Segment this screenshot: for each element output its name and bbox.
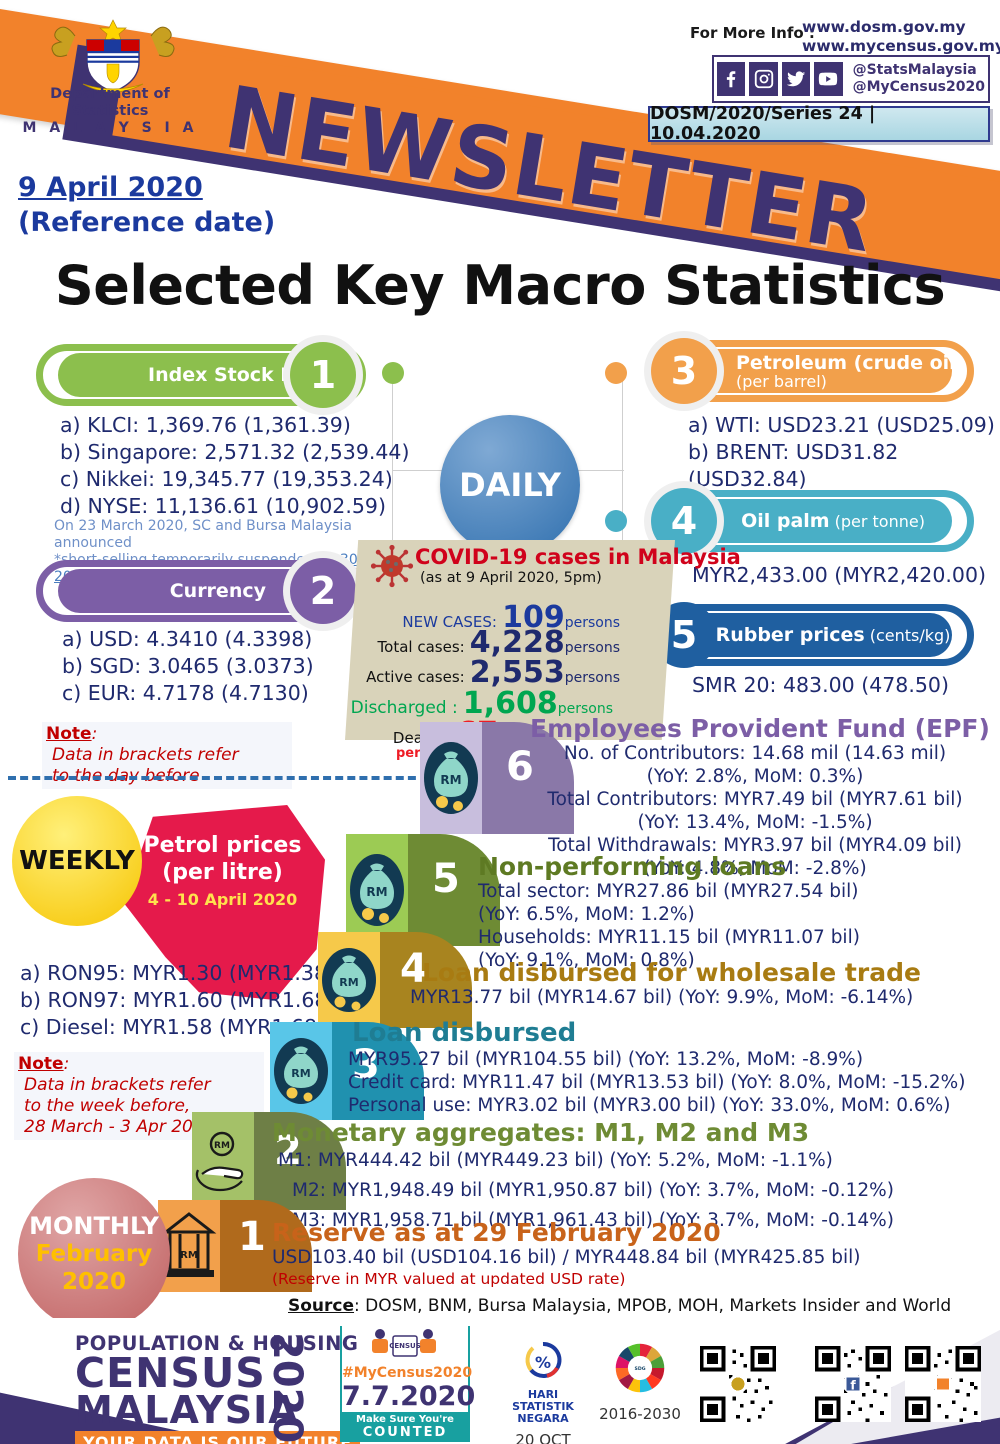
census-line3: MALAYSIA [75,1392,375,1428]
petrol-title-block: Petrol prices (per litre) 4 - 10 April 2… [125,832,320,909]
step-4-icon-bg: RM [318,932,380,1028]
weekly-note-line-2: to the week before, [24,1096,214,1117]
money-bag-icon: RM [346,834,408,946]
daily-item-1-dot [382,362,404,384]
daily-item-2-body: a) USD: 4.3410 (4.3398) b) SGD: 3.0465 (… [62,626,314,707]
qr-code-dosm[interactable] [700,1346,776,1422]
daily-note-key: Note [46,724,92,744]
daily-item-3-dot [605,362,627,384]
body-line: b) Singapore: 2,571.32 (2,539.44) [60,439,409,466]
department-line1: Department of Statistics [10,86,210,120]
hari-statistik-logo: % HARI STATISTIK NEGARA 20 OCT [495,1340,591,1444]
svg-text:RM: RM [214,1141,230,1151]
body-line: MYR95.27 bil (MYR104.55 bil) (YoY: 13.2%… [348,1048,965,1071]
covid-label: Total cases: [378,638,465,656]
step-5-icon-bg: RM [346,834,408,946]
daily-note-line-1: Data in brackets refer [52,745,239,766]
step-3-icon-bg: RM [270,1022,332,1120]
body-line: M2: MYR1,948.49 bil (MYR1,950.87 bil) (Y… [292,1176,894,1206]
body-line: b) BRENT: USD31.82 (USD32.84) [688,439,1000,493]
daily-item-5-body: SMR 20: 483.00 (478.50) [692,672,949,699]
svg-text:SDG: SDG [634,1366,645,1372]
body-line: Households: MYR11.15 bil (MYR11.07 bil) [478,926,860,949]
social-handles: @StatsMalaysia @MyCensus2020 [853,62,985,96]
qr-code-mycensus[interactable] [905,1346,981,1422]
weekly-badge: WEEKLY [12,796,142,926]
petrol-period: 4 - 10 April 2020 [125,890,320,909]
money-bag-icon: RM [270,1022,332,1120]
body-line: Total sector: MYR27.86 bil (MYR27.54 bil… [478,880,860,903]
petrol-title-line1: Petrol prices [125,832,320,859]
step-2-icon-bg: RM [192,1112,254,1210]
census-year: 2020 [268,1332,306,1443]
svg-text:RM: RM [180,1250,198,1261]
step-1-body: USD103.40 bil (USD104.16 bil) / MYR448.8… [272,1246,860,1269]
step-1-red-note: (Reserve in MYR valued at updated USD ra… [272,1270,625,1288]
monthly-label: MONTHLY [29,1212,159,1240]
covid-value: 2,553 [470,655,565,690]
social-media-box: @StatsMalaysia @MyCensus2020 [712,55,990,103]
covid-subtitle: (as at 9 April 2020, 5pm) [420,570,602,586]
daily-item-1-number: 1 [290,342,356,408]
daily-item-4-title: Oil palm [741,510,830,532]
svg-text:RM: RM [440,773,461,787]
daily-note-sep: : [92,724,98,744]
step-6-icon-bg: RM [420,722,482,834]
step-1-number: 1 [238,1214,266,1260]
body-line: a) WTI: USD23.21 (USD25.09) [688,412,1000,439]
hari-date: 20 OCT [495,1431,591,1444]
series-badge: DOSM/2020/Series 24 | 10.04.2020 [648,106,990,142]
infographic-page: NEWSLETTER Department of St [0,0,1000,1444]
body-line: USD103.40 bil (USD104.16 bil) / MYR448.8… [272,1246,860,1269]
daily-item-4-dot [605,510,627,532]
section-divider [8,776,428,780]
body-line: Credit card: MYR11.47 bil (MYR13.53 bil)… [348,1071,965,1094]
sdg-wheel-logo: SDG 2016-2030 [585,1340,695,1423]
body-line: b) RON97: MYR1.60 (MYR1.68) [20,987,335,1014]
source-sep: : [354,1296,365,1316]
census-line2: CENSUS [75,1355,375,1392]
body-line: c) Nikkei: 19,345.77 (19,353.24) [60,466,409,493]
body-line: a) USD: 4.3410 (4.3398) [62,626,314,653]
svg-text:%: % [535,1353,551,1372]
weekly-note-sep: : [64,1054,70,1074]
counted-line1: Make Sure You're [356,1414,454,1425]
census-tagline: YOUR DATA IS OUR FUTURE [75,1431,360,1444]
svg-text:CENSUS: CENSUS [389,1342,421,1350]
qr-code-facebook[interactable]: f [815,1346,891,1422]
covid-title: COVID-19 cases in Malaysia [415,545,741,569]
weekly-note-value: Data in brackets refer to the week befor… [24,1075,214,1138]
daily-item-4-subtitle: (per tonne) [835,512,925,531]
hand-coin-icon: RM [192,1112,254,1210]
more-info-label: For More Info : [690,24,815,42]
daily-item-3-body: a) WTI: USD23.21 (USD25.09) b) BRENT: US… [688,412,1000,493]
daily-badge: DAILY [440,415,580,555]
daily-note-value: Data in brackets refer to the day before [52,745,239,787]
handle-statsmalaysia: @StatsMalaysia [853,62,985,79]
mycensus-block: CENSUS #MyCensus2020 7.7.2020 Make Sure … [340,1326,470,1442]
covid-unit: persons [565,640,620,656]
petrol-title-line2: (per litre) [125,859,320,886]
body-line: (YoY: 13.4%, MoM: -1.5%) [520,811,990,834]
census-mascot-icon: CENSUS [342,1326,468,1365]
step-2-title: Monetary aggregates: M1, M2 and M3 [272,1118,809,1147]
body-line: M1: MYR444.42 bil (MYR449.23 bil) (YoY: … [278,1146,894,1176]
source-label: Source [288,1296,354,1316]
covid-unit: persons [565,670,620,686]
body-line: Total Contributors: MYR7.49 bil (MYR7.61… [520,788,990,811]
svg-text:RM: RM [291,1067,310,1080]
twitter-icon[interactable] [782,62,810,96]
body-line: MYR13.77 bil (MYR14.67 bil) (YoY: 9.9%, … [410,986,913,1009]
body-line: (YoY: 2.8%, MoM: 0.3%) [520,765,990,788]
svg-text:RM: RM [366,885,387,899]
body-line: No. of Contributors: 14.68 mil (14.63 mi… [520,742,990,765]
body-line: (YoY: 6.5%, MoM: 1.2%) [478,903,860,926]
covid-row-active-cases: Active cases: 2,553persons [360,655,620,690]
daily-item-5-subtitle: (cents/kg) [870,626,951,645]
handle-mycensus: @MyCensus2020 [853,79,985,96]
virus-icon [370,544,414,588]
daily-item-2-number: 2 [290,558,356,624]
sdg-range: 2016-2030 [585,1405,695,1423]
reference-date: 9 April 2020 [18,172,275,203]
weekly-note-line-3: 28 March - 3 Apr 2020 [24,1117,214,1138]
body-line: SMR 20: 483.00 (478.50) [692,672,949,699]
reference-date-label: (Reference date) [18,207,275,238]
body-line: a) RON95: MYR1.30 (MYR1.38) [20,960,335,987]
money-bag-icon: RM [318,932,380,1028]
instagram-icon[interactable] [749,62,777,96]
url-dosm[interactable]: www.dosm.gov.my [802,18,1000,37]
daily-item-3-title: Petroleum (crude oil) [736,353,964,373]
step-3-body: MYR95.27 bil (MYR104.55 bil) (YoY: 13.2%… [348,1048,965,1117]
covid-label: Discharged : [351,698,458,718]
body-line: a) KLCI: 1,369.76 (1,361.39) [60,412,409,439]
monthly-month: February [36,1240,152,1268]
weekly-note-line-1: Data in brackets refer [24,1075,214,1096]
body-line: d) NYSE: 11,136.61 (10,902.59) [60,493,409,520]
department-line2: M A L A Y S I A [10,120,210,137]
step-5-title: Non-performing loans [478,852,786,881]
step-3-title: Loan disbursed [352,1018,576,1048]
svg-text:RM: RM [339,976,358,989]
body-line: c) EUR: 4.7178 (4.7130) [62,680,314,707]
daily-item-3-subtitle: (per barrel) [736,373,827,390]
hari-line3: NEGARA [495,1413,591,1425]
footer-banner: POPULATION & HOUSING CENSUS MALAYSIA YOU… [0,1318,1000,1444]
facebook-icon[interactable] [717,62,745,96]
weekly-label: WEEKLY [19,846,135,876]
daily-item-1-body: a) KLCI: 1,369.76 (1,361.39) b) Singapor… [60,412,409,520]
covid-label: Active cases: [366,668,465,686]
daily-item-5-title: Rubber prices [716,624,865,646]
reference-date-block: 9 April 2020 (Reference date) [18,172,275,238]
money-bag-icon: RM [420,722,482,834]
step-5-number: 5 [432,856,460,902]
website-urls[interactable]: www.dosm.gov.my www.mycensus.gov.my [802,18,1000,56]
url-mycensus[interactable]: www.mycensus.gov.my [802,37,1000,56]
monthly-year: 2020 [62,1268,126,1296]
body-line: b) SGD: 3.0465 (3.0373) [62,653,314,680]
daily-item-3-number: 3 [651,338,717,404]
counted-line2: COUNTED [344,1425,466,1440]
department-name: Department of Statistics M A L A Y S I A [10,86,210,137]
body-line: Personal use: MYR3.02 bil (MYR3.00 bil) … [348,1094,965,1117]
census-hashtag: #MyCensus2020 [342,1365,468,1381]
counted-badge: Make Sure You're COUNTED [342,1412,468,1442]
connector-line-right-h [578,470,624,471]
monthly-badge: MONTHLY February 2020 [18,1178,170,1330]
svg-text:f: f [850,1378,856,1392]
weekly-note-key: Note [18,1054,64,1074]
youtube-icon[interactable] [814,62,842,96]
step-4-title: Loan disbursed for wholesale trade [422,958,921,987]
step-1-title: Reserve as at 29 February 2020 [272,1218,721,1247]
census-date: 7.7.2020 [342,1381,468,1412]
step-6-title: Employees Provident Fund (EPF) [530,714,990,743]
census-logo: POPULATION & HOUSING CENSUS MALAYSIA YOU… [75,1332,375,1444]
step-4-body: MYR13.77 bil (MYR14.67 bil) (YoY: 9.9%, … [410,986,913,1009]
page-title: Selected Key Macro Statistics [0,254,1000,317]
daily-item-2-title: Currency [170,580,266,602]
